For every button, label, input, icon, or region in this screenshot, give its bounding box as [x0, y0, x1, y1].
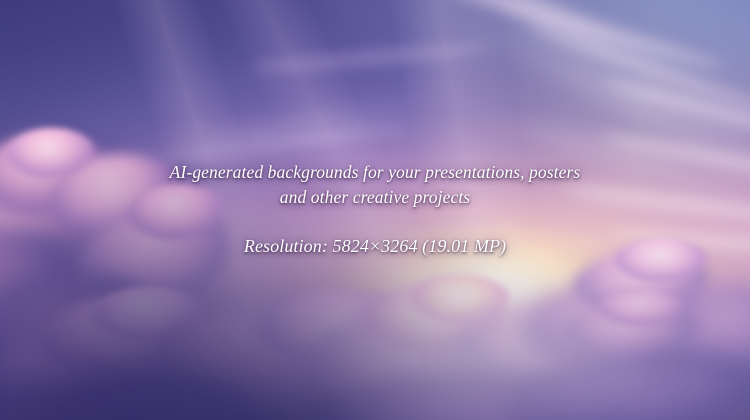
cirrus-wisp-4 [250, 42, 490, 75]
caption-line-1: AI-generated backgrounds for your presen… [0, 160, 750, 185]
resolution-text: Resolution: 5824×3264 (19.01 MP) [0, 234, 750, 259]
caption-overlay: AI-generated backgrounds for your presen… [0, 160, 750, 259]
caption-line-2: and other creative projects [0, 185, 750, 210]
cloud-right-detached [560, 286, 750, 376]
background-image-preview: AI-generated backgrounds for your presen… [0, 0, 750, 420]
